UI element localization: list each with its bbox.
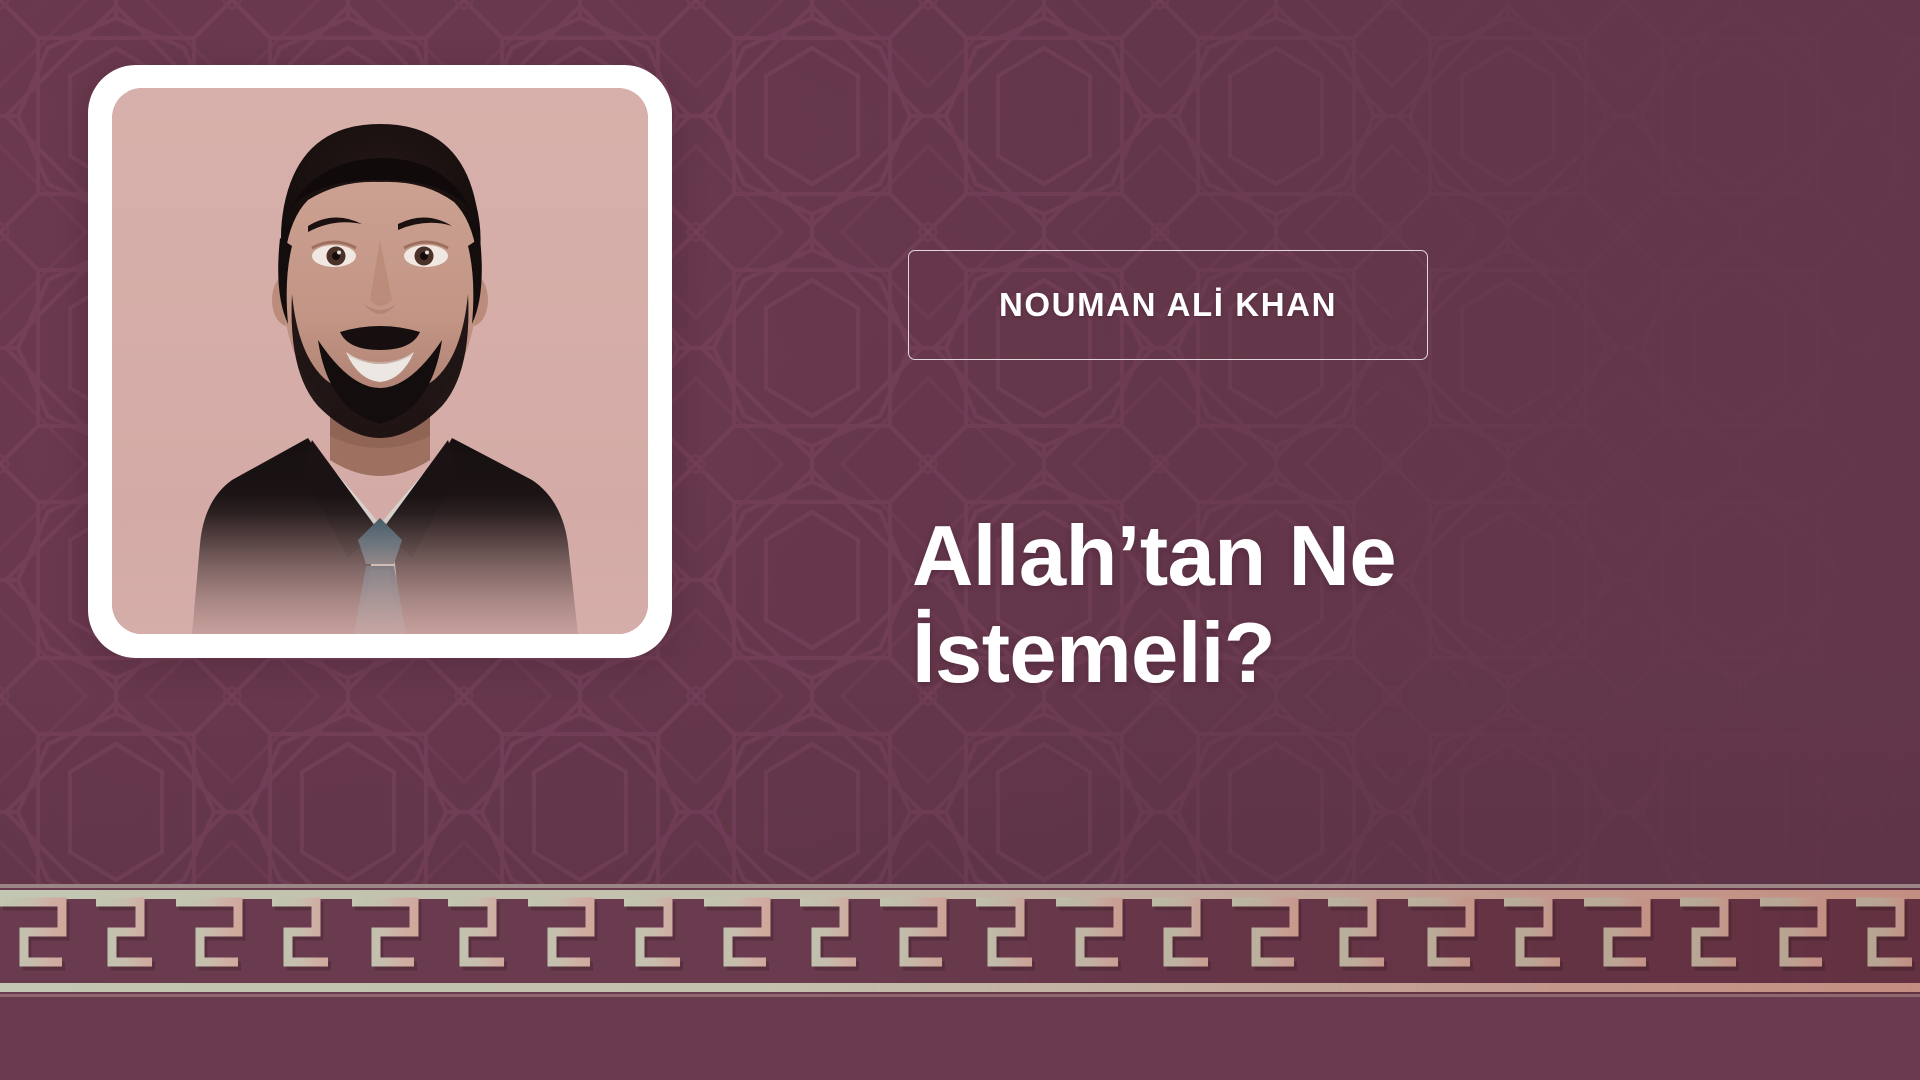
slide-title-line-2: İstemeli? xyxy=(912,606,1672,703)
slide-title-line-1: Allah’tan Ne xyxy=(912,509,1672,606)
speaker-name-label: NOUMAN ALİ KHAN xyxy=(999,286,1337,324)
kufic-meander-pattern xyxy=(0,888,1920,994)
speaker-name-badge: NOUMAN ALİ KHAN xyxy=(908,250,1428,360)
portrait-illustration xyxy=(112,88,648,634)
speaker-photo xyxy=(112,88,648,634)
slide-canvas: NOUMAN ALİ KHAN Allah’tan Ne İstemeli? xyxy=(0,0,1920,1080)
band-lower-fill xyxy=(0,997,1920,1080)
speaker-photo-card xyxy=(88,65,672,658)
slide-title: Allah’tan Ne İstemeli? xyxy=(912,509,1672,703)
ornamental-border-band xyxy=(0,884,1920,1080)
